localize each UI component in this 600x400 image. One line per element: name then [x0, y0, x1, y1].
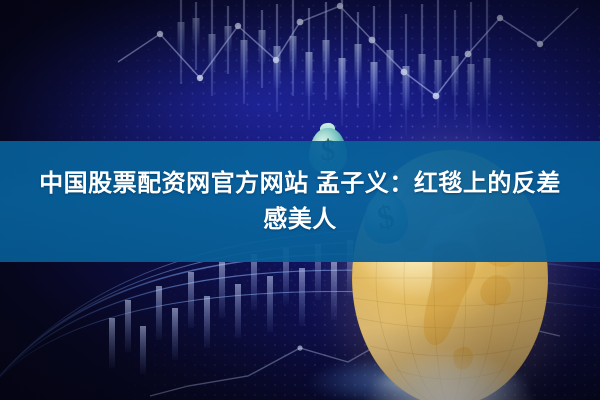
title-overlay: 中国股票配资网官方网站 孟子义：红毯上的反差 感美人	[0, 141, 600, 262]
node-line-chart-top	[118, 3, 578, 100]
globe-base-fade	[336, 329, 563, 400]
title-line-2: 感美人	[263, 202, 337, 238]
candlestick-group-top	[178, 0, 491, 136]
title-line-1: 中国股票配资网官方网站 孟子义：红毯上的反差	[39, 166, 561, 202]
thumbnail-image: $ $ 中国股票配资网官方网站 孟子义：红毯上的反差 感美人	[0, 0, 600, 400]
